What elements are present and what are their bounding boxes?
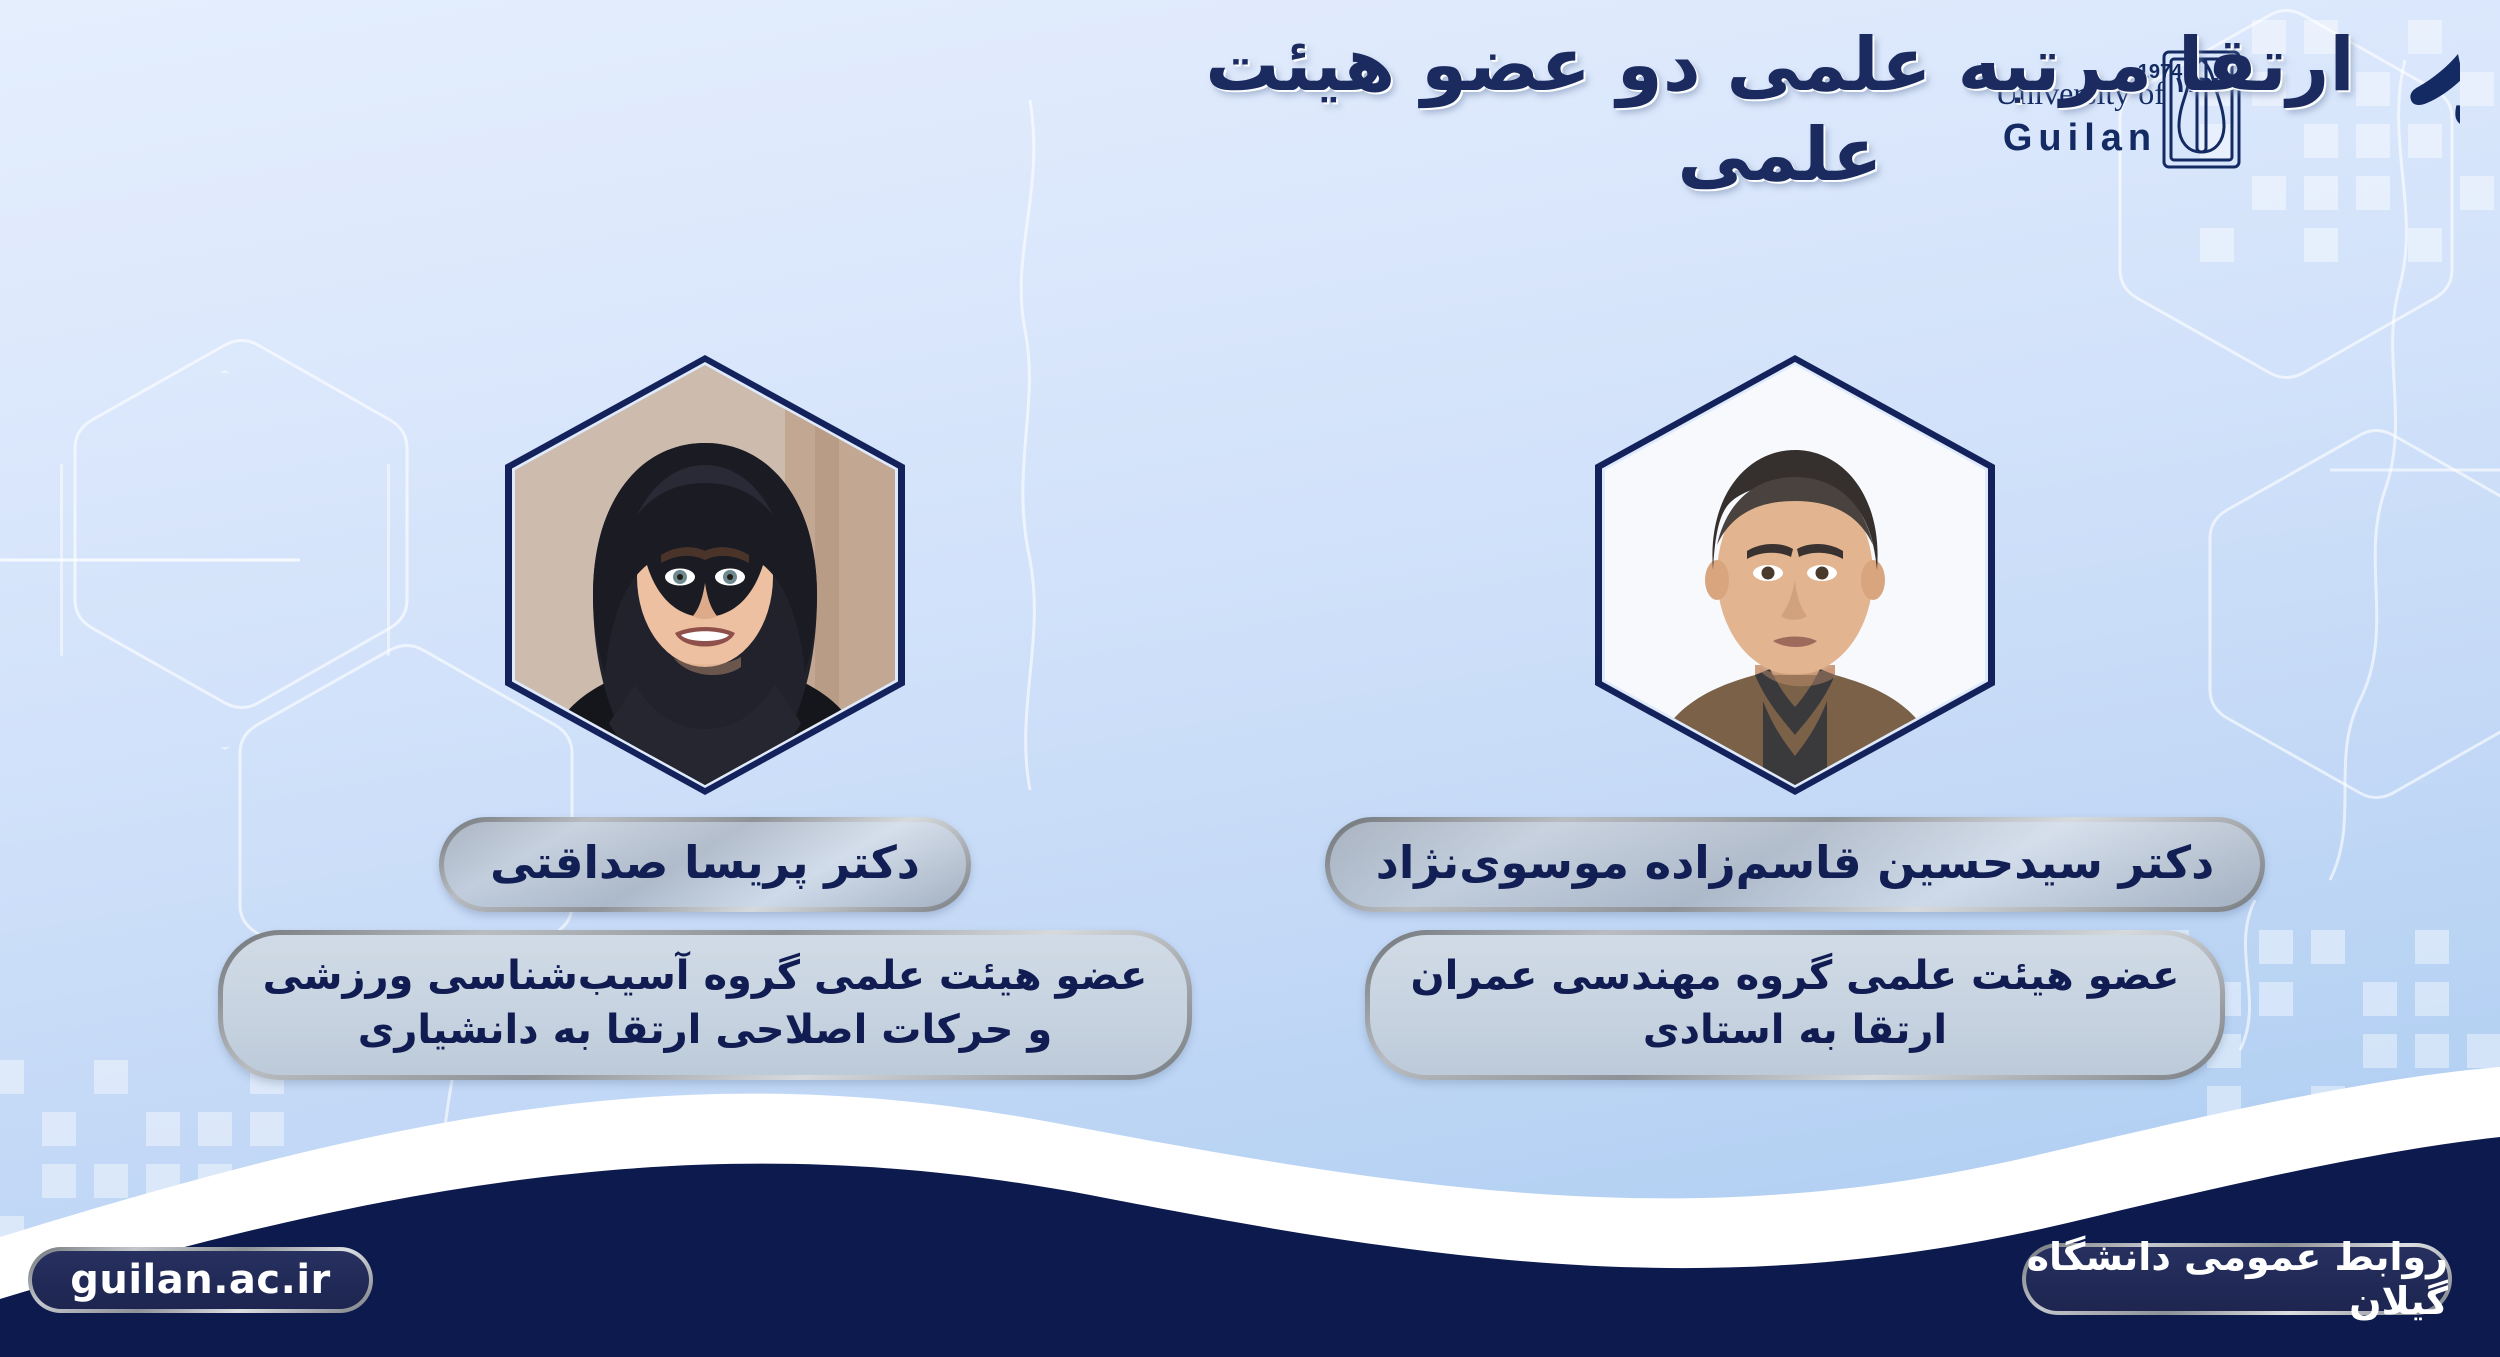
portrait-frame-male <box>1595 355 1995 795</box>
logo-persian-name: دانشگاه گیلان <box>2452 68 2460 131</box>
poster-canvas: دانشگاه گیلان 1974 ۱۳۵۳ University of Gu… <box>0 0 2500 1357</box>
honoree-name-right: دکتر سیدحسین قاسم‌زاده موسوی‌نژاد <box>1325 817 2265 912</box>
page-title: ارتقا مرتبه علمی دو عضو هیئت علمی <box>1120 20 2440 201</box>
public-relations-badge: روابط عمومی دانشگاه گیلان <box>2022 1243 2452 1315</box>
portrait-female-photo <box>515 365 895 785</box>
portrait-frame-female <box>505 355 905 795</box>
honoree-name-left: دکتر پریسا صداقتی <box>439 817 971 912</box>
portrait-male-photo <box>1605 365 1985 785</box>
website-badge[interactable]: guilan.ac.ir <box>28 1247 373 1313</box>
